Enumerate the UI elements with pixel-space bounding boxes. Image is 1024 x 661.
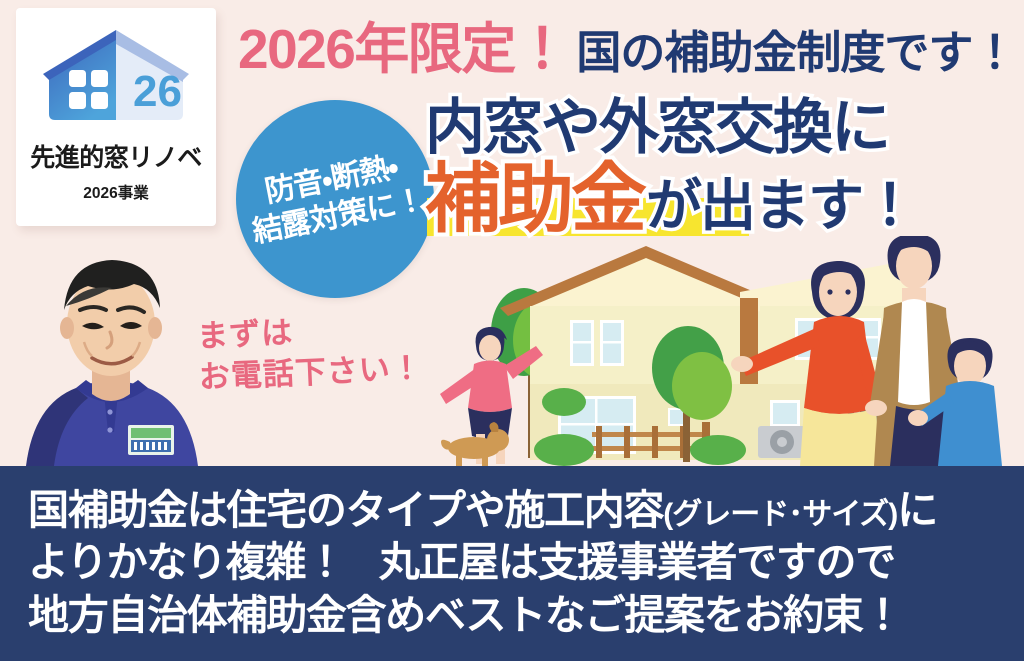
logo-program-name: 先進的窓リノベ [30, 138, 202, 174]
company-badge [128, 425, 174, 455]
shrub [690, 435, 746, 465]
band-line-1b: に [897, 487, 937, 533]
benefits-circle-badge: 防音・断熱・ 結露対策に！ [236, 100, 434, 298]
call-us-line-2: お電話下さい！ [198, 348, 424, 399]
band-line-1-note: (グレード･サイズ) [663, 498, 897, 531]
ac-outdoor-unit [758, 426, 806, 458]
bottom-message-band: 国補助金は住宅のタイプや施工内容(グレード･サイズ)に よりかなり複雑！丸正屋は… [0, 466, 1024, 661]
headline-national-subsidy: 国の補助金制度です！ [576, 30, 1016, 77]
headline-row-1: 2026年限定！ 国の補助金制度です！ [238, 22, 1016, 77]
headline-row-3: 補助金 が出ます！ [425, 162, 1024, 238]
benefits-badge-text: 防音・断熱・ 結露対策に！ [243, 146, 428, 251]
headline-subsidy-tail: が出ます！ [646, 178, 916, 238]
banner-upper-stage: 26 先進的窓リノベ 2026事業 2026年限定！ 国の補助金制度です！ 防音… [0, 0, 1024, 466]
band-line-2b: 丸正屋は支援事業者ですので [379, 539, 895, 585]
logo-program-year: 2026事業 [83, 181, 148, 203]
band-line-2: よりかなり複雑！丸正屋は支援事業者ですので [28, 536, 1002, 588]
logo-year-number: 26 [133, 67, 182, 116]
staff-photo [0, 244, 222, 466]
band-line-3: 地方自治体補助金含めベストなご提案をお約束！ [28, 589, 1002, 641]
promotional-banner: 26 先進的窓リノベ 2026事業 2026年限定！ 国の補助金制度です！ 防音… [0, 0, 1024, 661]
house-and-family-illustration [440, 236, 1024, 466]
headline-window-replacement: 内窓や外窓交換に [425, 98, 1024, 158]
shrub [534, 434, 594, 466]
band-line-1: 国補助金は住宅のタイプや施工内容(グレード･サイズ)に [28, 484, 1002, 536]
illustration-svg [440, 236, 1024, 466]
headline-year-limited: 2026年限定！ [238, 22, 568, 77]
band-line-2a: よりかなり複雑！ [28, 539, 345, 585]
house-logo-icon: 26 [43, 26, 189, 124]
staff-photo-svg [0, 244, 222, 466]
main-headline: 内窓や外窓交換に 補助金 が出ます！ [425, 98, 1024, 238]
shrub [542, 388, 586, 416]
subsidy-program-logo-card: 26 先進的窓リノベ 2026事業 [16, 8, 216, 226]
headline-subsidy-word: 補助金 [425, 162, 644, 238]
call-us-handwritten-note: まずは お電話下さい！ [196, 307, 423, 399]
band-line-1a: 国補助金は住宅のタイプや施工内容 [28, 487, 663, 533]
